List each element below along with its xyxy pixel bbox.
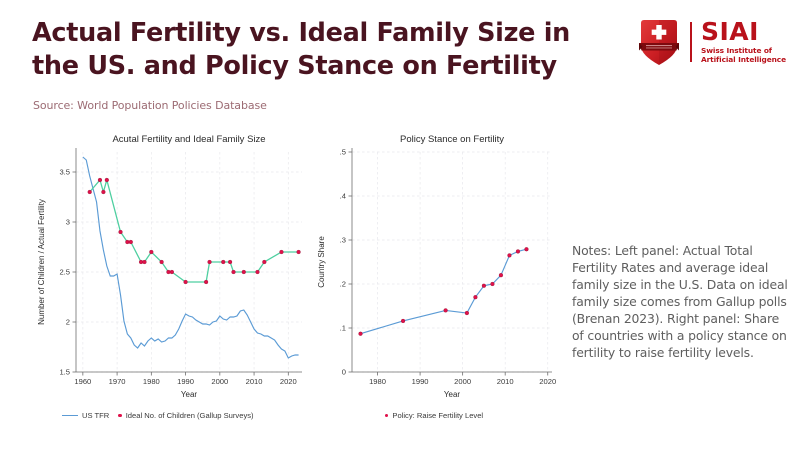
data-point-marker xyxy=(149,250,153,254)
legend-label-us-tfr: US TFR xyxy=(82,411,109,420)
x-tick-label: 1990 xyxy=(177,377,194,386)
data-point-marker xyxy=(98,178,102,182)
x-axis-title: Year xyxy=(444,390,461,399)
series-line-us-tfr xyxy=(83,157,299,358)
notes-panel: Notes: Left panel: Actual Total Fertilit… xyxy=(572,243,790,362)
x-tick-label: 2010 xyxy=(497,377,514,386)
page-title: Actual Fertility vs. Ideal Family Size i… xyxy=(32,17,612,83)
logo-text: SIAI Swiss Institute of Artificial Intel… xyxy=(701,20,786,64)
y-tick-label: 2 xyxy=(66,318,70,327)
chart-title: Policy Stance on Fertility xyxy=(400,134,504,145)
legend-label-policy-raise: Policy: Raise Fertility Level xyxy=(392,411,483,420)
siai-logo: SIAI Swiss Institute of Artificial Intel… xyxy=(637,14,786,70)
x-tick-label: 2020 xyxy=(280,377,297,386)
y-tick-label: .3 xyxy=(340,236,346,245)
data-point-marker xyxy=(256,270,260,274)
data-point-marker xyxy=(359,332,363,336)
data-point-marker xyxy=(88,190,92,194)
data-point-marker xyxy=(105,178,109,182)
x-tick-label: 1980 xyxy=(369,377,386,386)
legend-item-ideal-children: Ideal No. of Children (Gallup Surveys) xyxy=(118,411,253,420)
legend-dot-swatch-icon xyxy=(118,414,121,417)
data-point-marker xyxy=(401,319,405,323)
x-tick-label: 2000 xyxy=(211,377,228,386)
y-tick-label: 3.5 xyxy=(59,168,70,177)
y-tick-label: .1 xyxy=(340,324,346,333)
y-axis-title: Number of Children / Actual Fertility xyxy=(37,199,46,325)
data-point-marker xyxy=(262,260,266,264)
data-point-marker xyxy=(499,273,503,277)
y-tick-label: 2.5 xyxy=(59,268,70,277)
chart-left-actual-fertility: Acutal Fertility and Ideal Family Size1.… xyxy=(32,128,312,418)
y-tick-label: 0 xyxy=(342,368,346,377)
x-axis-title: Year xyxy=(181,390,198,399)
y-tick-label: .2 xyxy=(340,280,346,289)
y-tick-label: .5 xyxy=(340,148,346,157)
data-point-marker xyxy=(444,309,448,313)
data-point-marker xyxy=(297,250,301,254)
data-point-marker xyxy=(232,270,236,274)
y-tick-label: 3 xyxy=(66,218,70,227)
data-point-marker xyxy=(101,190,105,194)
header: Actual Fertility vs. Ideal Family Size i… xyxy=(0,0,800,118)
data-point-marker xyxy=(119,230,123,234)
x-tick-label: 2010 xyxy=(246,377,263,386)
series-line-policy-raise-fertility-level xyxy=(361,249,527,333)
legend-item-policy-raise: Policy: Raise Fertility Level xyxy=(385,411,483,420)
data-point-marker xyxy=(482,284,486,288)
data-point-marker xyxy=(228,260,232,264)
data-point-marker xyxy=(491,282,495,286)
legend-left: US TFR Ideal No. of Children (Gallup Sur… xyxy=(62,411,254,420)
data-point-marker xyxy=(474,295,478,299)
legend-dot-swatch-icon xyxy=(385,414,388,417)
legend-item-us-tfr: US TFR xyxy=(62,411,109,420)
x-tick-label: 2020 xyxy=(539,377,556,386)
data-point-marker xyxy=(221,260,225,264)
data-point-marker xyxy=(280,250,284,254)
legend-label-ideal-children: Ideal No. of Children (Gallup Surveys) xyxy=(126,411,254,420)
x-tick-label: 1970 xyxy=(109,377,126,386)
x-tick-label: 1990 xyxy=(412,377,429,386)
page-title-line-1: Actual Fertility vs. Ideal Family Size i… xyxy=(32,17,612,50)
legend-right: Policy: Raise Fertility Level xyxy=(385,411,483,420)
data-point-marker xyxy=(125,240,129,244)
y-tick-label: .4 xyxy=(340,192,346,201)
source-caption: Source: World Population Policies Databa… xyxy=(33,99,267,112)
x-tick-label: 2000 xyxy=(454,377,471,386)
chart-title: Acutal Fertility and Ideal Family Size xyxy=(112,134,265,145)
logo-subtitle-line-2: Artificial Intelligence xyxy=(701,55,786,64)
chart-right-policy-stance: Policy Stance on Fertility0.1.2.3.4.5198… xyxy=(312,128,562,418)
data-point-marker xyxy=(208,260,212,264)
legend-line-swatch-icon xyxy=(62,415,78,416)
data-point-marker xyxy=(525,247,529,251)
x-tick-label: 1960 xyxy=(74,377,91,386)
data-point-marker xyxy=(516,250,520,254)
data-point-marker xyxy=(143,260,147,264)
y-tick-label: 1.5 xyxy=(59,368,70,377)
page-title-line-2: the US. and Policy Stance on Fertility xyxy=(32,50,612,83)
x-tick-label: 1980 xyxy=(143,377,160,386)
data-point-marker xyxy=(465,311,469,315)
swiss-cross-shield-icon xyxy=(637,17,681,67)
data-point-marker xyxy=(184,280,188,284)
data-point-marker xyxy=(242,270,246,274)
data-point-marker xyxy=(508,254,512,258)
data-point-marker xyxy=(160,260,164,264)
data-point-marker xyxy=(167,270,171,274)
logo-subtitle-line-1: Swiss Institute of xyxy=(701,46,786,55)
data-point-marker xyxy=(204,280,208,284)
data-point-marker xyxy=(139,260,143,264)
y-axis-title: Country Share xyxy=(317,236,326,288)
data-point-marker xyxy=(129,240,133,244)
logo-name: SIAI xyxy=(701,20,786,44)
data-point-marker xyxy=(170,270,174,274)
logo-divider xyxy=(690,22,692,62)
